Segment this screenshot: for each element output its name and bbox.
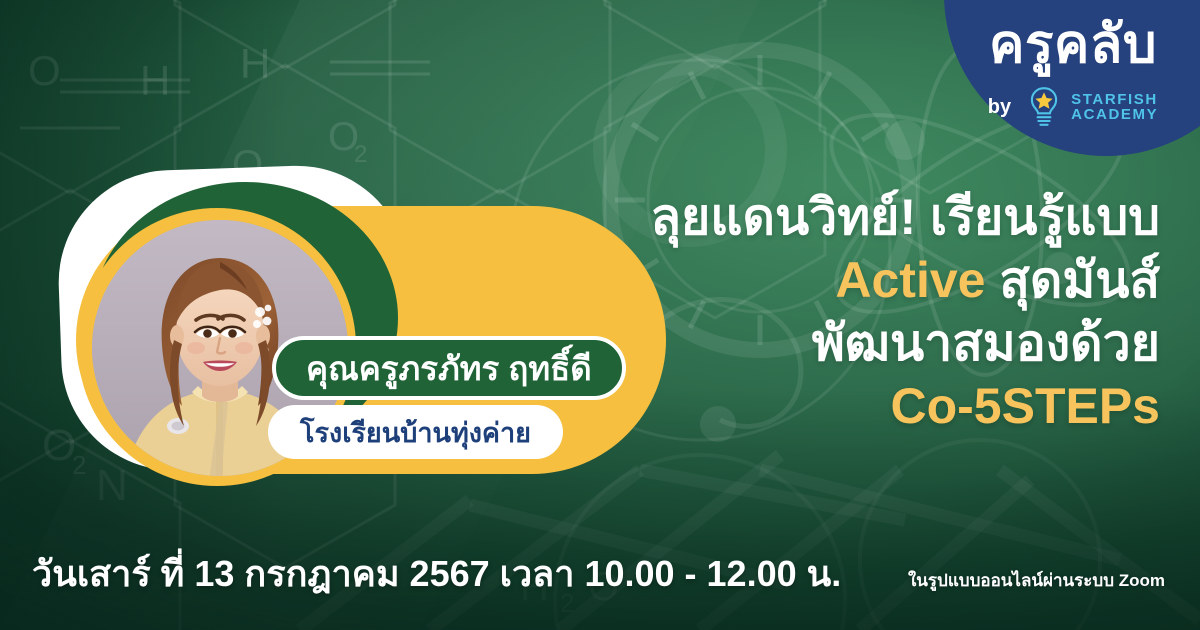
headline-line-2-rest: สุดมันส์ xyxy=(985,252,1160,308)
speaker-school-label: โรงเรียนบ้านทุ่งค่าย xyxy=(300,411,531,454)
headline-line-2: Active สุดมันส์ xyxy=(430,249,1160,312)
event-datetime: วันเสาร์ ที่ 13 กรกฎาคม 2567 เวลา 10.00 … xyxy=(32,545,841,602)
headline-block: ลุยแดนวิทย์! เรียนรู้แบบ Active สุดมันส์… xyxy=(430,186,1160,438)
speaker-school-pill: โรงเรียนบ้านทุ่งค่าย xyxy=(268,405,563,459)
speaker-name-pill: คุณครูภรภัทร ฤทธิ์ดี xyxy=(272,336,626,400)
headline-line-1: ลุยแดนวิทย์! เรียนรู้แบบ xyxy=(430,186,1160,249)
banner-canvas: O H H O 2 O 2 O 2 N H 2 O xyxy=(0,0,1200,630)
speaker-name-label: คุณครูภรภัทร ฤทธิ์ดี xyxy=(306,342,592,395)
headline-accent-active: Active xyxy=(835,252,985,308)
event-platform-note: ในรูปแบบออนไลน์ผ่านระบบ Zoom xyxy=(908,567,1165,594)
